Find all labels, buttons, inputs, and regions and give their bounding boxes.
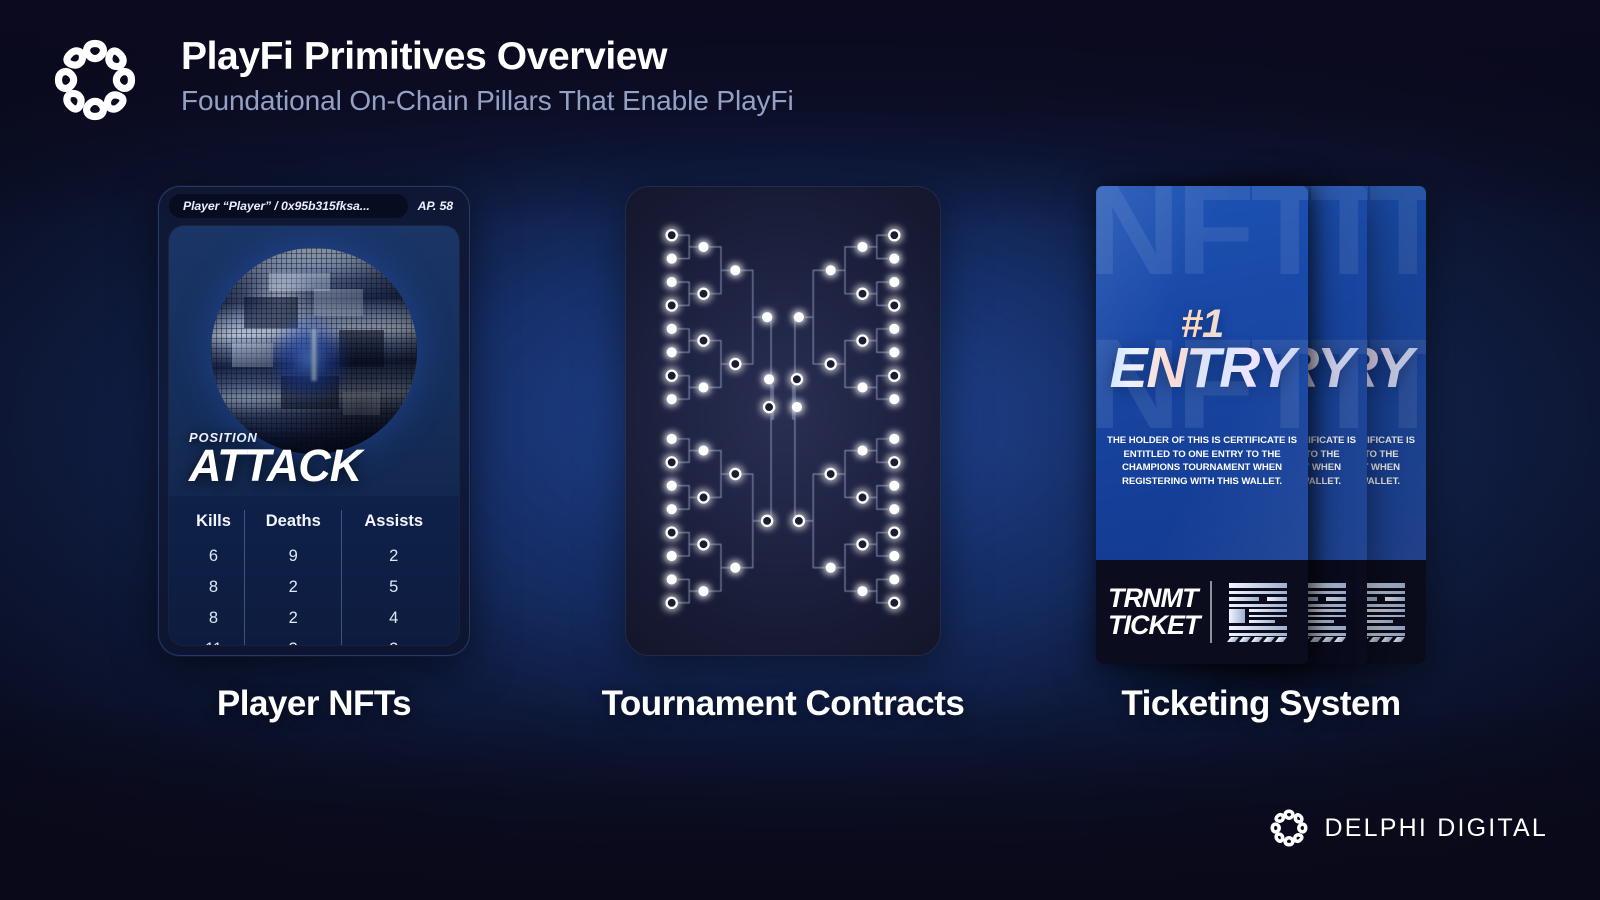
barcode-bar: [1310, 637, 1322, 642]
primitives-panel-row: Player “Player” / 0x95b315fksa... AP. 58: [0, 186, 1600, 766]
bracket-node: [889, 371, 899, 381]
player-nft-card[interactable]: Player “Player” / 0x95b315fksa... AP. 58: [158, 186, 470, 656]
stats-cell: 5: [342, 572, 445, 603]
stats-column-header: Deaths: [245, 510, 342, 541]
stats-cell: 2: [342, 634, 445, 646]
digital-sphere-globe-icon: [211, 248, 417, 454]
player-stats-section: KillsDeathsAssists 6928258241132: [169, 496, 459, 645]
bracket-node: [667, 277, 677, 287]
tournament-bracket-diagram-icon: [626, 187, 940, 655]
bracket-node: [764, 374, 774, 384]
panel-caption-tournament-contracts: Tournament Contracts: [602, 684, 965, 724]
bracket-node: [667, 230, 677, 240]
bracket-node: [792, 402, 802, 412]
page-title: PlayFi Primitives Overview: [181, 36, 794, 77]
barcode-bar: [1385, 597, 1405, 601]
bracket-node: [698, 446, 708, 456]
ticket-brand-line-2: TICKET: [1108, 612, 1200, 639]
bracket-node: [889, 528, 899, 538]
barcode-bar: [1334, 637, 1346, 642]
barcode-bar: [1229, 626, 1287, 630]
bracket-node: [730, 563, 740, 573]
barcode-bar: [1308, 615, 1346, 617]
bracket-node: [667, 371, 677, 381]
header-text-block: PlayFi Primitives Overview Foundational …: [181, 28, 794, 117]
barcode-bar: [1229, 597, 1259, 601]
bracket-node: [889, 230, 899, 240]
ticket-divider: [1210, 581, 1212, 643]
bracket-node: [857, 446, 867, 456]
barcode-bar: [1263, 637, 1275, 642]
bracket-node: [826, 563, 836, 573]
stats-column-header: Assists: [342, 510, 445, 541]
ticket-card-front[interactable]: NFT NFT #1 ENTRY THE HOLDER OF THIS IS C…: [1096, 186, 1308, 664]
player-nft-card-header: Player “Player” / 0x95b315fksa... AP. 58: [159, 187, 469, 225]
barcode-bar: [1229, 604, 1287, 607]
bracket-node: [889, 324, 899, 334]
bracket-node: [857, 382, 867, 392]
barcode-bar: [1267, 597, 1287, 601]
player-owner-label: Player “Player” / 0x95b315fksa...: [183, 199, 370, 213]
bracket-node: [857, 242, 867, 252]
bracket-node: [826, 469, 836, 479]
bracket-node: [698, 289, 708, 299]
barcode-bar: [1229, 609, 1245, 623]
bracket-node: [762, 312, 772, 322]
stats-cell: 9: [245, 541, 342, 572]
bracket-node: [889, 598, 899, 608]
bracket-node: [667, 394, 677, 404]
ticket-watermark-top: NFT: [1096, 186, 1308, 282]
stats-cell: 3: [245, 634, 342, 646]
footer-brand: DELPHI DIGITAL: [1267, 806, 1548, 850]
table-row: 824: [183, 603, 445, 634]
bracket-node: [762, 516, 772, 526]
panel-ticketing-system: NFT NFT #1 ENTRY THE HOLDER OF THIS IS C…: [1096, 186, 1426, 664]
table-row: 1132: [183, 634, 445, 646]
table-row: 692: [183, 541, 445, 572]
bracket-node: [667, 504, 677, 514]
barcode-bar: [1367, 615, 1405, 617]
barcode-bar: [1369, 637, 1381, 642]
delphi-knot-logo-icon: [1267, 806, 1311, 850]
page-header: PlayFi Primitives Overview Foundational …: [47, 28, 794, 128]
stats-cell: 11: [183, 634, 245, 646]
bracket-node: [667, 434, 677, 444]
player-stats-table: KillsDeathsAssists 6928258241132: [183, 510, 445, 646]
bracket-node: [667, 574, 677, 584]
barcode-bar: [1322, 637, 1334, 642]
barcode-bar: [1229, 633, 1287, 636]
bracket-node: [889, 434, 899, 444]
bracket-node: [794, 312, 804, 322]
player-owner-pill: Player “Player” / 0x95b315fksa...: [169, 194, 408, 218]
tournament-bracket-card[interactable]: [625, 186, 941, 656]
bracket-node: [698, 586, 708, 596]
bracket-node: [794, 516, 804, 526]
bracket-node: [889, 551, 899, 561]
barcode-block-icon: [1223, 581, 1297, 643]
bracket-node: [857, 336, 867, 346]
stats-cell: 6: [183, 541, 245, 572]
barcode-bar: [1275, 637, 1287, 642]
player-ap-label: AP. 58: [418, 199, 453, 213]
panel-player-nfts: Player “Player” / 0x95b315fksa... AP. 58: [158, 186, 470, 656]
bracket-node: [730, 359, 740, 369]
panel-tournament-contracts: Tournament Contracts: [625, 186, 941, 656]
barcode-bar: [1381, 637, 1393, 642]
barcode-bar: [1229, 591, 1287, 594]
ticket-stack: NFT NFT #1 ENTRY THE HOLDER OF THIS IS C…: [1096, 186, 1426, 664]
barcode-bar: [1393, 637, 1405, 642]
bracket-node: [889, 347, 899, 357]
bracket-node: [667, 254, 677, 264]
bracket-node: [826, 359, 836, 369]
barcode-bar: [1227, 637, 1239, 642]
bracket-node: [889, 457, 899, 467]
bracket-node: [889, 277, 899, 287]
bracket-node: [889, 504, 899, 514]
page-subtitle: Foundational On-Chain Pillars That Enabl…: [181, 86, 794, 117]
bracket-node: [889, 481, 899, 491]
bracket-node: [889, 300, 899, 310]
bracket-node: [730, 469, 740, 479]
stats-cell: 4: [342, 603, 445, 634]
ticket-brand-line-1: TRNMT: [1108, 585, 1200, 612]
bracket-node: [792, 374, 802, 384]
barcode-bar: [1249, 620, 1275, 623]
bracket-node: [730, 265, 740, 275]
ticket-fine-print: THE HOLDER OF THIS IS CERTIFICATE IS ENT…: [1106, 434, 1298, 488]
barcode-bar: [1308, 620, 1334, 623]
bracket-node: [667, 347, 677, 357]
bracket-node: [667, 598, 677, 608]
panel-caption-player-nfts: Player NFTs: [217, 684, 411, 724]
panel-caption-ticketing-system: Ticketing System: [1121, 684, 1400, 724]
bracket-node: [889, 574, 899, 584]
bracket-node: [667, 457, 677, 467]
barcode-bar: [1326, 597, 1346, 601]
bracket-node: [857, 289, 867, 299]
bracket-node: [764, 402, 774, 412]
bracket-node: [667, 551, 677, 561]
bracket-node: [698, 242, 708, 252]
bracket-node: [857, 586, 867, 596]
barcode-bar: [1367, 620, 1393, 623]
bracket-node: [698, 539, 708, 549]
bracket-node: [698, 382, 708, 392]
bracket-node: [698, 336, 708, 346]
stats-cell: 2: [342, 541, 445, 572]
ticket-entry-label: ENTRY: [1096, 340, 1308, 397]
player-nft-artwork: POSITION ATTACK: [169, 226, 459, 496]
bracket-node: [667, 300, 677, 310]
bracket-node: [826, 265, 836, 275]
stats-cell: 8: [183, 603, 245, 634]
barcode-bar: [1251, 637, 1263, 642]
bracket-node: [857, 492, 867, 502]
barcode-bar: [1249, 609, 1287, 612]
barcode-bar: [1367, 609, 1405, 612]
stats-cell: 2: [245, 603, 342, 634]
stats-cell: 2: [245, 572, 342, 603]
stats-cell: 8: [183, 572, 245, 603]
bracket-node: [889, 394, 899, 404]
stats-column-header: Kills: [183, 510, 245, 541]
barcode-bar: [1239, 637, 1251, 642]
bracket-node: [698, 492, 708, 502]
footer-brand-name: DELPHI DIGITAL: [1325, 814, 1548, 843]
bracket-node: [667, 481, 677, 491]
table-row: 825: [183, 572, 445, 603]
barcode-bar: [1229, 583, 1287, 588]
bracket-node: [667, 528, 677, 538]
player-position-value: ATTACK: [189, 443, 361, 489]
player-position-block: POSITION ATTACK: [189, 430, 361, 489]
table-header-row: KillsDeathsAssists: [183, 510, 445, 541]
bracket-node: [857, 539, 867, 549]
delphi-knot-logo-icon: [47, 32, 143, 128]
barcode-bar: [1249, 615, 1287, 617]
barcode-bar: [1308, 609, 1346, 612]
bracket-node: [889, 254, 899, 264]
bracket-node: [667, 324, 677, 334]
player-nft-card-body: POSITION ATTACK KillsDeathsAssists 69282…: [168, 225, 460, 646]
